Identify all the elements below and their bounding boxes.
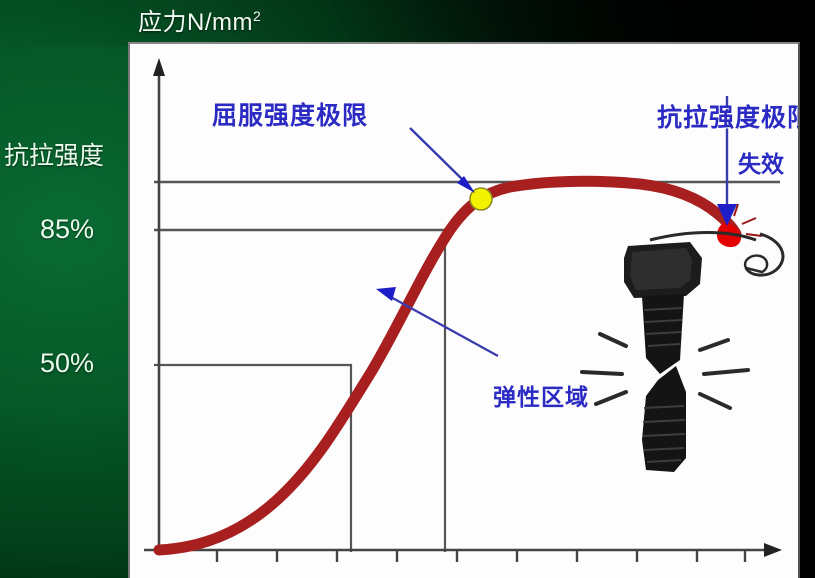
y-axis-title-superscript: 2 <box>253 8 261 24</box>
background-top-shade <box>0 0 815 46</box>
slide-canvas: 应力N/mm2 抗拉强度 85% 50% <box>0 0 815 578</box>
annotation-ultimate-tensile-limit: 抗拉强度极限 <box>657 98 800 134</box>
annotation-elastic-region: 弹性区域 <box>493 378 589 412</box>
label-50-percent: 50% <box>40 348 94 379</box>
x-axis <box>144 543 782 562</box>
chart-panel: 屈服强度极限 抗拉强度极限 失效 弹性区域 <box>128 42 800 578</box>
annotation-failure: 失效 <box>738 145 784 179</box>
y-axis-title: 应力N/mm2 <box>138 2 261 37</box>
arrow-yield <box>410 128 475 193</box>
y-axis <box>153 58 165 550</box>
annotation-yield-limit: 屈服强度极限 <box>212 96 368 132</box>
label-tensile-strength: 抗拉强度 <box>4 136 104 172</box>
y-axis-title-text: 应力N/mm <box>138 9 253 36</box>
reference-lines <box>154 182 780 552</box>
broken-bolt-illustration <box>582 233 783 473</box>
x-axis-ticks <box>217 550 745 562</box>
label-85-percent: 85% <box>40 214 94 245</box>
